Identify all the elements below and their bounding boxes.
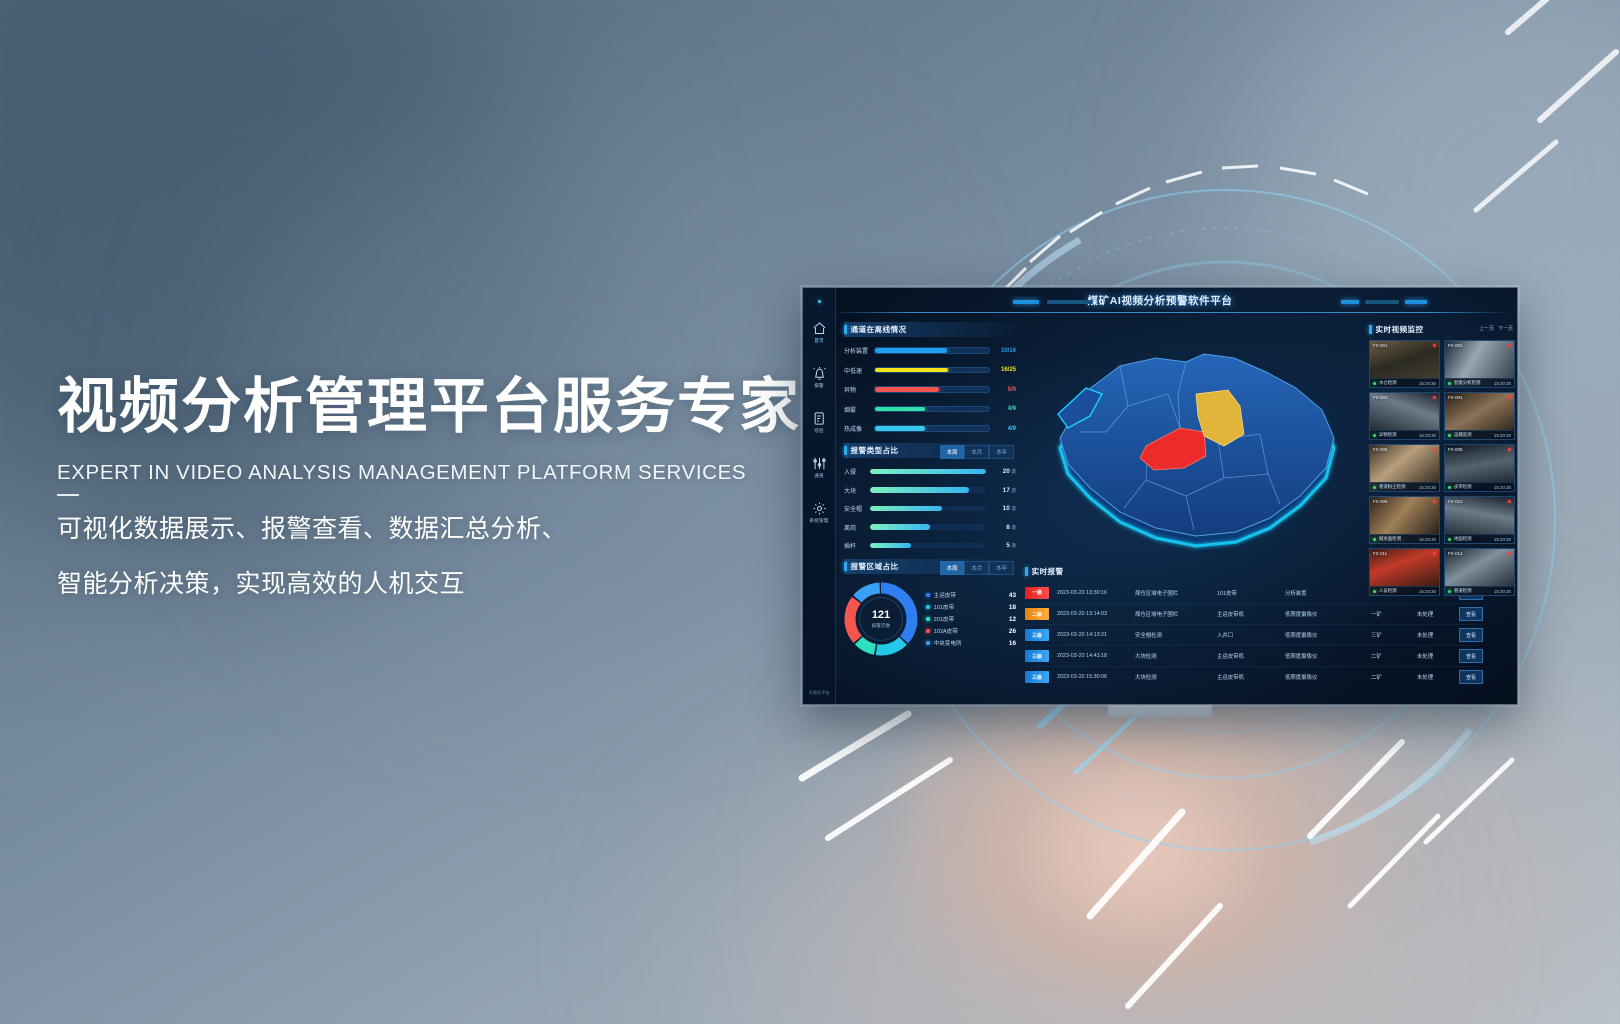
video-tile-name: 巷道粉尘检测 <box>1379 484 1419 490</box>
map-svg <box>1028 328 1358 558</box>
legend-color-dot <box>926 593 930 597</box>
sidebar-footer-label: 可视化平台 <box>803 690 835 696</box>
alarm-type: 煤仓区域电子围栏 <box>1127 610 1209 618</box>
legend-value: 12 <box>1009 616 1016 623</box>
type-panel-title: 报警类型占比 本周本月本年 <box>844 445 1016 456</box>
video-tile-time: 15:20:30 <box>1494 485 1511 490</box>
video-tile-time: 15:20:30 <box>1419 589 1436 594</box>
monitor-stand <box>1108 705 1212 718</box>
channel-row-fill <box>875 348 947 353</box>
video-tile-time: 15:20:30 <box>1494 381 1511 386</box>
alarm-time: 2023-03-20 15:30:06 <box>1049 674 1127 680</box>
channel-row: 中低速16/25 <box>844 364 1016 377</box>
online-status-icon <box>1448 590 1451 593</box>
gear-icon <box>812 501 827 516</box>
recording-indicator-icon <box>1433 500 1436 503</box>
video-tile-time: 15:20:30 <box>1494 589 1511 594</box>
channel-row-value: 5/9 <box>990 387 1016 393</box>
header-segment-1 <box>1013 300 1039 304</box>
channel-row-label: 中低速 <box>844 366 874 375</box>
header-segment-3 <box>1341 300 1359 304</box>
online-status-icon <box>1373 590 1376 593</box>
sidebar-item-channel-label: 通道 <box>814 473 824 479</box>
channel-row: 异物5/9 <box>844 383 1016 396</box>
tab-本周[interactable]: 本周 <box>940 561 965 575</box>
alarm-device: 低照度摄像仪 <box>1277 610 1363 618</box>
alarm-type-rows: 入侵20次大块17次安全帽10次离岗8次插杆5次 <box>844 465 1016 552</box>
alarm-place: 主运皮带机 <box>1209 673 1277 681</box>
legend-label: 101皮带 <box>934 603 1009 611</box>
alarm-type-track <box>870 469 986 475</box>
donut-chart-block: 121 报警次数 主运皮带43101皮带18201皮带12102A皮带26中央变… <box>844 582 1016 656</box>
recording-indicator-icon <box>1508 344 1511 347</box>
alarm-type-track <box>870 543 986 549</box>
legend-color-dot <box>926 605 930 609</box>
video-tile-footer: 地面检测15:20:30 <box>1445 534 1514 543</box>
alarm-mine: 三矿 <box>1363 631 1409 639</box>
channel-rows: 分析装置10/16中低速16/25异物5/9烟雾4/9热成像4/9 <box>844 344 1016 435</box>
video-tile-name: 掘进面检测 <box>1379 536 1419 542</box>
alarm-place: 主运皮带机 <box>1209 610 1277 618</box>
table-row[interactable]: 三级2023-03-20 15:30:06大块检测主运皮带机低照度摄像仪二矿未处… <box>1025 666 1477 687</box>
video-tile[interactable]: FX-003异物检测15:20:30 <box>1369 392 1440 440</box>
video-tile-footer: 皮带检测15:20:30 <box>1445 482 1514 491</box>
hero-divider <box>57 494 79 496</box>
alarm-type: 安全帽检测 <box>1127 631 1209 639</box>
hero-block: 视频分析管理平台服务专家 EXPERT IN VIDEO ANALYSIS MA… <box>57 372 857 607</box>
channel-row-value: 16/25 <box>990 367 1016 373</box>
sidebar-item-home[interactable]: 首页 <box>803 310 835 355</box>
video-tile-id: FX-012 <box>1448 551 1462 556</box>
video-tile-footer: 巷道检测15:20:30 <box>1445 586 1514 595</box>
channel-row-value: 10/16 <box>990 348 1016 354</box>
alarm-action[interactable]: 查看 <box>1451 628 1485 642</box>
alarm-type-fill <box>870 469 986 475</box>
title-accent-bar <box>1025 567 1028 576</box>
video-tile-id: FX-002 <box>1448 343 1462 348</box>
alarm-type-panel: 报警类型占比 本周本月本年 入侵20次大块17次安全帽10次离岗8次插杆5次 <box>844 445 1016 552</box>
legend-item: 中央变电所16 <box>926 637 1016 649</box>
header-segment-2 <box>1047 300 1093 304</box>
legend-item: 201皮带12 <box>926 613 1016 625</box>
legend-color-dot <box>926 617 930 621</box>
video-tile[interactable]: FX-001水仓检测15:20:30 <box>1369 340 1440 388</box>
alarm-status: 未处理 <box>1409 652 1451 660</box>
video-tile[interactable]: FX-008皮带检测15:20:30 <box>1444 444 1515 492</box>
video-tile-id: FX-009 <box>1373 499 1387 504</box>
alarm-type: 大块检测 <box>1127 673 1209 681</box>
video-tile-name: 人员检测 <box>1379 588 1419 594</box>
header-underline <box>829 312 1511 313</box>
online-status-icon <box>1373 434 1376 437</box>
video-tile-name: 巷道检测 <box>1454 588 1494 594</box>
video-tile[interactable]: FX-009掘进面检测15:20:30 <box>1369 496 1440 544</box>
alarm-mine: 二矿 <box>1363 652 1409 660</box>
channel-panel-title: 通道在离线情况 <box>844 324 1016 335</box>
channel-icon <box>812 456 827 471</box>
video-tile-footer: 运输监测15:20:30 <box>1445 430 1514 439</box>
video-tile-name: 皮带检测 <box>1454 484 1494 490</box>
alarm-table-rows: 一级2023-03-20 13:30:16煤仓区域电子围栏101皮带分析装置一矿… <box>1025 582 1477 687</box>
video-tile-name: 异物检测 <box>1379 432 1419 438</box>
video-tile-name: 智能分析检测 <box>1454 380 1494 386</box>
donut-total-caption: 报警次数 <box>872 623 890 629</box>
alarm-type-label: 安全帽 <box>844 504 870 513</box>
channel-row-label: 分析装置 <box>844 346 874 355</box>
title-accent-bar <box>844 562 847 571</box>
alarm-type-fill <box>870 506 942 512</box>
video-tile-name: 水仓检测 <box>1379 380 1419 386</box>
prev-page-button[interactable]: 上一页 <box>1479 325 1494 332</box>
status-badge: 三级 <box>1025 650 1049 662</box>
header-segment-5 <box>1405 300 1427 304</box>
area-panel-title: 报警区域占比 本周本月本年 <box>844 561 1016 572</box>
header-segment-4 <box>1365 300 1399 304</box>
video-tile-id: FX-003 <box>1373 395 1387 400</box>
video-tile-id: FX-006 <box>1373 447 1387 452</box>
alarm-device: 分析装置 <box>1277 589 1363 597</box>
type-panel-tabs[interactable]: 本周本月本年 <box>940 445 1014 459</box>
sidebar-item-inspection[interactable]: 巡检 <box>803 400 835 445</box>
video-tile-name: 地面检测 <box>1454 536 1494 542</box>
recording-indicator-icon <box>1433 396 1436 399</box>
online-status-icon <box>1448 486 1451 489</box>
video-tile-id: FX-004 <box>1448 395 1462 400</box>
hand-photo-highlight <box>975 745 1305 985</box>
video-tile-id: FX-011 <box>1373 551 1387 556</box>
legend-item: 101皮带18 <box>926 601 1016 613</box>
channel-row-fill <box>875 426 925 431</box>
channel-row-track <box>874 406 990 413</box>
dashboard-screen: 煤矿AI视频分析预警软件平台 首页 <box>803 288 1517 704</box>
recording-indicator-icon <box>1433 344 1436 347</box>
video-tile-footer: 巷道粉尘检测15:20:30 <box>1370 482 1439 491</box>
table-row[interactable]: 三级2023-03-20 14:13:21安全帽检测入井口低照度摄像仪三矿未处理… <box>1025 624 1477 645</box>
next-page-button[interactable]: 下一页 <box>1498 325 1513 332</box>
legend-label: 102A皮带 <box>934 627 1009 635</box>
legend-label: 201皮带 <box>934 615 1009 623</box>
video-tile-time: 15:20:30 <box>1419 485 1436 490</box>
alarm-status: 未处理 <box>1409 673 1451 681</box>
legend-value: 26 <box>1009 628 1016 635</box>
hero-subtitle-english: EXPERT IN VIDEO ANALYSIS MANAGEMENT PLAT… <box>57 461 857 485</box>
alarm-device: 低照度摄像仪 <box>1277 673 1363 681</box>
alarm-type-label: 入侵 <box>844 467 870 476</box>
video-tile-id: FX-001 <box>1373 343 1387 348</box>
province-map[interactable] <box>1028 328 1358 558</box>
legend-color-dot <box>926 629 930 633</box>
channel-row-value: 4/9 <box>990 406 1016 412</box>
alarm-panel-title-text: 实时报警 <box>1032 566 1064 577</box>
view-button[interactable]: 查看 <box>1459 607 1483 621</box>
alarm-type-fill <box>870 543 911 549</box>
channel-panel-title-text: 通道在离线情况 <box>851 324 907 335</box>
sidebar-item-alarm[interactable]: 报警 <box>803 355 835 400</box>
alarm-area-panel: 报警区域占比 本周本月本年 121 报警次数 主运皮带43101皮带18201皮… <box>844 561 1016 656</box>
legend-item: 102A皮带26 <box>926 625 1016 637</box>
alarm-type-row: 插杆5次 <box>844 539 1016 552</box>
video-tile-id: FX-010 <box>1448 499 1462 504</box>
sidebar-item-channel[interactable]: 通道 <box>803 445 835 490</box>
title-accent-bar <box>844 325 847 334</box>
video-tile-time: 15:20:30 <box>1494 537 1511 542</box>
alarm-status: 未处理 <box>1409 631 1451 639</box>
alarm-type-row: 安全帽10次 <box>844 502 1016 515</box>
donut-legend: 主运皮带43101皮带18201皮带12102A皮带26中央变电所16 <box>918 589 1016 649</box>
sidebar-item-inspection-label: 巡检 <box>814 428 824 434</box>
online-status-icon <box>1373 486 1376 489</box>
alarm-type-row: 离岗8次 <box>844 521 1016 534</box>
online-status-icon <box>1448 382 1451 385</box>
tab-本年[interactable]: 本年 <box>989 561 1014 575</box>
alarm-type-label: 离岗 <box>844 523 870 532</box>
alarm-type-value: 10次 <box>986 505 1016 512</box>
alarm-type-label: 大块 <box>844 486 870 495</box>
channel-row-value: 4/9 <box>990 426 1016 432</box>
video-tile-name: 运输监测 <box>1454 432 1494 438</box>
channel-row-track <box>874 386 990 393</box>
status-badge: 三级 <box>1025 629 1049 641</box>
legend-label: 中央变电所 <box>934 639 1009 647</box>
legend-value: 43 <box>1009 592 1016 599</box>
alarm-mine: 二矿 <box>1363 673 1409 681</box>
alarm-place: 入井口 <box>1209 631 1277 639</box>
alarm-device: 低照度摄像仪 <box>1277 631 1363 639</box>
online-status-icon <box>1448 538 1451 541</box>
legend-value: 16 <box>1009 640 1016 647</box>
recording-indicator-icon <box>1508 500 1511 503</box>
channel-row: 烟雾4/9 <box>844 403 1016 416</box>
video-tile-time: 15:20:30 <box>1494 433 1511 438</box>
alarm-area-donut-chart: 121 报警次数 <box>844 582 918 656</box>
area-panel-tabs[interactable]: 本周本月本年 <box>940 561 1014 575</box>
title-accent-bar <box>844 446 847 455</box>
alarm-time: 2023-03-20 14:13:21 <box>1049 632 1127 638</box>
alarm-time: 2023-03-20 13:14:03 <box>1049 611 1127 617</box>
alarm-mine: 一矿 <box>1363 610 1409 618</box>
status-badge: 一级 <box>1025 587 1049 599</box>
alarm-type-row: 入侵20次 <box>844 465 1016 478</box>
alarm-action[interactable]: 查看 <box>1451 607 1485 621</box>
video-tile[interactable]: FX-004运输监测15:20:30 <box>1444 392 1515 440</box>
recording-indicator-icon <box>1433 448 1436 451</box>
channel-row-track <box>874 347 990 354</box>
hero-description-line-1: 可视化数据展示、报警查看、数据汇总分析、 <box>57 507 857 552</box>
sidebar-item-home-label: 首页 <box>814 338 824 344</box>
home-icon <box>812 321 827 336</box>
view-button[interactable]: 查看 <box>1459 649 1483 663</box>
video-tile-id: FX-008 <box>1448 447 1462 452</box>
legend-value: 18 <box>1009 604 1016 611</box>
channel-row-fill <box>875 368 948 373</box>
video-tile-footer: 水仓检测15:20:30 <box>1370 378 1439 387</box>
alarm-type-track <box>870 487 986 493</box>
hero-description-line-2: 智能分析决策，实现高效的人机交互 <box>57 562 857 607</box>
recording-indicator-icon <box>1508 448 1511 451</box>
alarm-type-row: 大块17次 <box>844 484 1016 497</box>
channel-row-label: 烟雾 <box>844 405 874 414</box>
recording-indicator-icon <box>1433 552 1436 555</box>
video-panel-title-text: 实时视频监控 <box>1376 324 1424 335</box>
view-button[interactable]: 查看 <box>1459 670 1483 684</box>
alarm-action[interactable]: 查看 <box>1451 670 1485 684</box>
alarm-type-value: 8次 <box>986 524 1016 531</box>
recording-indicator-icon <box>1508 552 1511 555</box>
alarm-type-fill <box>870 524 930 530</box>
video-monitor-panel: 实时视频监控 上一页 下一页 FX-001水仓检测15:20:30FX-002智… <box>1369 324 1515 596</box>
video-tile-footer: 人员检测15:20:30 <box>1370 586 1439 595</box>
tab-本月[interactable]: 本月 <box>964 445 989 459</box>
video-tile[interactable]: FX-012巷道检测15:20:30 <box>1444 548 1515 596</box>
video-tile-time: 15:20:30 <box>1419 433 1436 438</box>
sidebar: 首页 报警 巡检 <box>803 288 836 704</box>
alarm-icon <box>812 366 827 381</box>
legend-item: 主运皮带43 <box>926 589 1016 601</box>
channel-row-fill <box>875 387 939 392</box>
tab-本年[interactable]: 本年 <box>989 445 1014 459</box>
sidebar-status-dot <box>818 300 821 303</box>
status-badge: 三级 <box>1025 671 1049 683</box>
donut-total-value: 121 <box>872 610 890 621</box>
alarm-type-track <box>870 524 986 530</box>
sidebar-item-system[interactable]: 系统管理 <box>803 490 835 535</box>
channel-row-label: 热成像 <box>844 424 874 433</box>
channel-row-label: 异物 <box>844 385 874 394</box>
dashboard-header: 煤矿AI视频分析预警软件平台 <box>803 288 1517 321</box>
alarm-type-value: 20次 <box>986 468 1016 475</box>
alarm-time: 2023-03-20 13:30:16 <box>1049 590 1127 596</box>
alarm-type: 大块检测 <box>1127 652 1209 660</box>
video-tile-footer: 智能分析检测15:20:30 <box>1445 378 1514 387</box>
table-row[interactable]: 三级2023-03-20 14:43:18大块检测主运皮带机低照度摄像仪二矿未处… <box>1025 645 1477 666</box>
legend-color-dot <box>926 641 930 645</box>
tab-本周[interactable]: 本周 <box>940 445 965 459</box>
view-button[interactable]: 查看 <box>1459 628 1483 642</box>
status-badge: 二级 <box>1025 608 1049 620</box>
video-pagination[interactable]: 上一页 下一页 <box>1479 325 1513 332</box>
type-panel-title-text: 报警类型占比 <box>851 445 899 456</box>
video-tile[interactable]: FX-002智能分析检测15:20:30 <box>1444 340 1515 388</box>
online-status-icon <box>1448 434 1451 437</box>
title-accent-bar <box>1369 325 1372 334</box>
video-tile-grid: FX-001水仓检测15:20:30FX-002智能分析检测15:20:30FX… <box>1369 340 1515 596</box>
channel-row: 分析装置10/16 <box>844 344 1016 357</box>
tab-本月[interactable]: 本月 <box>964 561 989 575</box>
alarm-place: 主运皮带机 <box>1209 652 1277 660</box>
channel-status-panel: 通道在离线情况 分析装置10/16中低速16/25异物5/9烟雾4/9热成像4/… <box>844 324 1016 435</box>
video-tile[interactable]: FX-006巷道粉尘检测15:20:30 <box>1369 444 1440 492</box>
alarm-type: 煤仓区域电子围栏 <box>1127 589 1209 597</box>
donut-center: 121 报警次数 <box>859 597 903 641</box>
left-column: 通道在离线情况 分析装置10/16中低速16/25异物5/9烟雾4/9热成像4/… <box>844 324 1016 656</box>
alarm-type-label: 插杆 <box>844 541 870 550</box>
alarm-type-value: 5次 <box>986 542 1016 549</box>
alarm-time: 2023-03-20 14:43:18 <box>1049 653 1127 659</box>
alarm-type-track <box>870 506 986 512</box>
alarm-place: 101皮带 <box>1209 589 1277 597</box>
alarm-status: 未处理 <box>1409 610 1451 618</box>
channel-row-track <box>874 425 990 432</box>
video-tile[interactable]: FX-011人员检测15:20:30 <box>1369 548 1440 596</box>
table-row[interactable]: 二级2023-03-20 13:14:03煤仓区域电子围栏主运皮带机低照度摄像仪… <box>1025 603 1477 624</box>
video-tile-time: 15:20:30 <box>1419 537 1436 542</box>
alarm-action[interactable]: 查看 <box>1451 649 1485 663</box>
sidebar-item-alarm-label: 报警 <box>814 383 824 389</box>
recording-indicator-icon <box>1508 396 1511 399</box>
online-status-icon <box>1373 382 1376 385</box>
online-status-icon <box>1373 538 1376 541</box>
video-tile-footer: 掘进面检测15:20:30 <box>1370 534 1439 543</box>
video-panel-title: 实时视频监控 上一页 下一页 <box>1369 324 1515 335</box>
channel-row-fill <box>875 407 925 412</box>
video-tile-footer: 异物检测15:20:30 <box>1370 430 1439 439</box>
channel-row: 热成像4/9 <box>844 422 1016 435</box>
top-right-lines-decoration <box>1420 0 1620 300</box>
alarm-type-fill <box>870 487 969 493</box>
video-tile-time: 15:20:30 <box>1419 381 1436 386</box>
legend-label: 主运皮带 <box>934 591 1009 599</box>
monitor-frame: 煤矿AI视频分析预警软件平台 首页 <box>802 287 1518 705</box>
alarm-device: 低照度摄像仪 <box>1277 652 1363 660</box>
alarm-type-value: 17次 <box>986 487 1016 494</box>
inspection-icon <box>812 411 827 426</box>
channel-row-track <box>874 367 990 374</box>
video-tile[interactable]: FX-010地面检测15:20:30 <box>1444 496 1515 544</box>
page-title: 视频分析管理平台服务专家 <box>57 372 857 443</box>
area-panel-title-text: 报警区域占比 <box>851 561 899 572</box>
sidebar-item-system-label: 系统管理 <box>809 518 828 524</box>
